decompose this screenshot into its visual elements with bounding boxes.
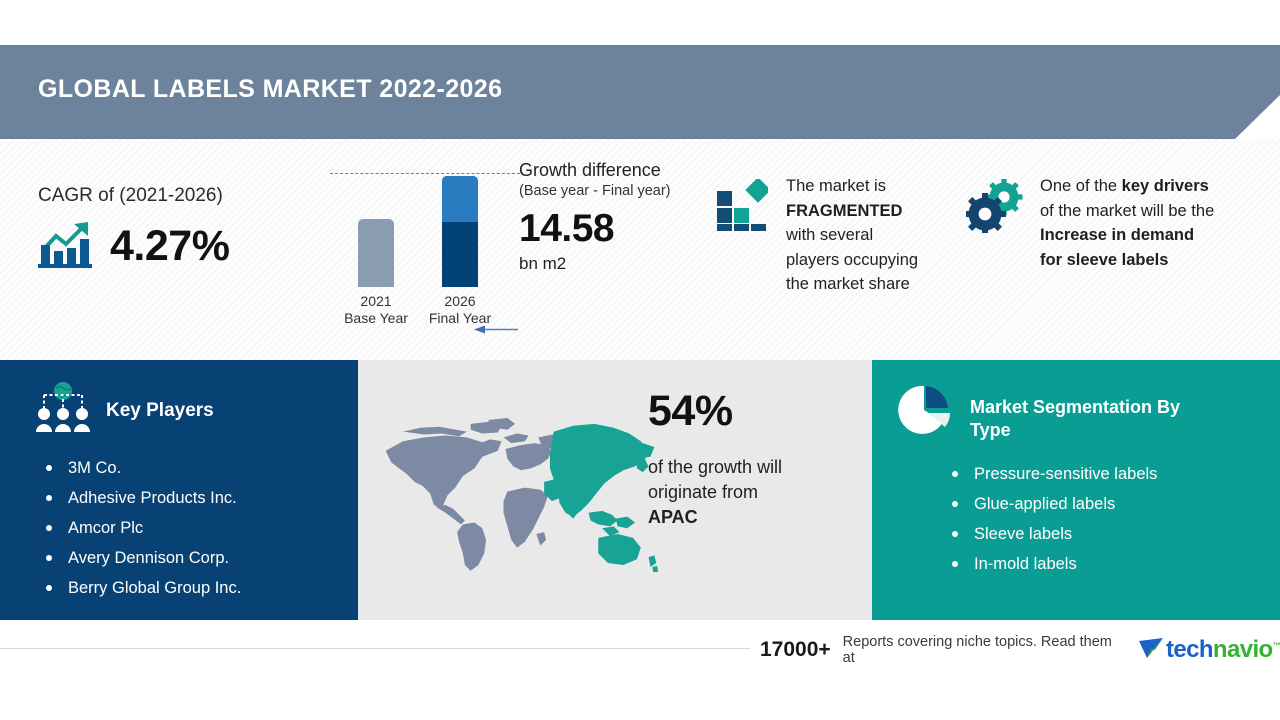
chart-guide-line-top xyxy=(330,173,520,174)
technavio-logo[interactable]: technavio™ xyxy=(1138,636,1280,665)
list-item: Glue-applied labels xyxy=(952,489,1280,519)
growth-title: Growth difference xyxy=(519,159,719,181)
infographic-page: CAGR of (2021-2026) 4.27% xyxy=(0,0,1280,720)
growth-difference-chart: 2021 Base Year 2026 Final Year xyxy=(330,155,520,335)
list-item: Avery Dennison Corp. xyxy=(44,543,358,573)
fragmented-line3: with several xyxy=(786,226,873,244)
cagr-block: CAGR of (2021-2026) 4.27% xyxy=(38,185,308,274)
growth-callout-arrow-icon xyxy=(474,321,518,330)
growth-desc-line2: originate from xyxy=(648,482,758,502)
growth-value: 14.58 xyxy=(519,205,719,253)
fragmented-line1: The market is xyxy=(786,177,886,195)
footer: 17000+ Reports covering niche topics. Re… xyxy=(0,620,1280,720)
growth-subtitle: (Base year - Final year) xyxy=(519,181,719,201)
gears-icon xyxy=(966,179,1024,272)
bar-base-year xyxy=(358,219,394,287)
growth-percent: 54% xyxy=(648,385,848,437)
list-item: Adhesive Products Inc. xyxy=(44,483,358,513)
growth-description: of the growth will originate from APAC xyxy=(648,455,848,530)
segmentation-header: Market Segmentation By Type xyxy=(872,360,1280,445)
report-count: 17000+ xyxy=(760,638,831,662)
world-map-graphic xyxy=(374,412,664,572)
key-drivers-text: One of the key drivers of the market wil… xyxy=(1040,174,1235,272)
list-item: Amcor Plc xyxy=(44,513,358,543)
pie-chart-icon xyxy=(898,384,954,445)
globe-people-network-icon xyxy=(34,382,92,439)
growth-unit: bn m2 xyxy=(519,254,719,274)
list-item: 3M Co. xyxy=(44,453,358,483)
logo-text-navio: navio xyxy=(1213,636,1273,663)
list-item: Sleeve labels xyxy=(952,519,1280,549)
market-fragmented-block: The market is FRAGMENTED with several pl… xyxy=(716,179,961,297)
cagr-label: CAGR of (2021-2026) xyxy=(38,185,308,207)
cagr-value: 4.27% xyxy=(110,222,229,271)
key-players-title: Key Players xyxy=(106,400,214,422)
growth-difference-text: Growth difference (Base year - Final yea… xyxy=(519,159,719,274)
logo-text-tech: tech xyxy=(1166,636,1213,663)
map-apac-highlight xyxy=(544,424,658,572)
page-title: GLOBAL LABELS MARKET 2022-2026 xyxy=(38,75,502,104)
key-players-panel: Key Players 3M Co. Adhesive Products Inc… xyxy=(0,360,358,620)
fragmented-squares-icon xyxy=(716,179,768,297)
footer-tagline: Reports covering niche topics. Read them… xyxy=(843,634,1114,666)
growth-origin-panel: 54% of the growth will originate from AP… xyxy=(358,360,872,620)
drivers-line4: for sleeve labels xyxy=(1040,251,1168,269)
drivers-line2: of the market will be the xyxy=(1040,202,1214,220)
segmentation-list: Pressure-sensitive labels Glue-applied l… xyxy=(872,459,1280,579)
segmentation-title: Market Segmentation By Type xyxy=(970,396,1220,442)
drivers-line3: Increase in demand xyxy=(1040,226,1194,244)
drivers-line1-bold: key drivers xyxy=(1122,177,1209,195)
growth-desc-line1: of the growth will xyxy=(648,457,782,477)
market-segmentation-panel: Market Segmentation By Type Pressure-sen… xyxy=(872,360,1280,620)
map-base-regions xyxy=(386,418,574,571)
key-players-list: 3M Co. Adhesive Products Inc. Amcor Plc … xyxy=(0,453,358,603)
bar-final-year xyxy=(442,176,478,287)
fragmented-line2: FRAGMENTED xyxy=(786,202,902,220)
list-item: Berry Global Group Inc. xyxy=(44,573,358,603)
technavio-mark-icon xyxy=(1138,636,1164,665)
top-stats-band: CAGR of (2021-2026) 4.27% xyxy=(0,139,1280,360)
key-drivers-block: One of the key drivers of the market wil… xyxy=(966,179,1235,272)
logo-trademark: ™ xyxy=(1273,641,1280,650)
list-item: Pressure-sensitive labels xyxy=(952,459,1280,489)
fragmented-line4: players occupying xyxy=(786,251,918,269)
fragmented-line5: the market share xyxy=(786,275,910,293)
bar-chart-growth-icon xyxy=(38,219,96,274)
growth-origin-text: 54% of the growth will originate from AP… xyxy=(648,385,848,530)
header-banner: GLOBAL LABELS MARKET 2022-2026 xyxy=(0,45,1280,139)
bar-growth-segment xyxy=(442,176,478,222)
footer-divider xyxy=(0,648,750,649)
list-item: In-mold labels xyxy=(952,549,1280,579)
fragmented-text: The market is FRAGMENTED with several pl… xyxy=(786,174,961,297)
key-players-header: Key Players xyxy=(0,360,358,439)
growth-region: APAC xyxy=(648,507,698,527)
drivers-line1: One of the xyxy=(1040,177,1122,195)
